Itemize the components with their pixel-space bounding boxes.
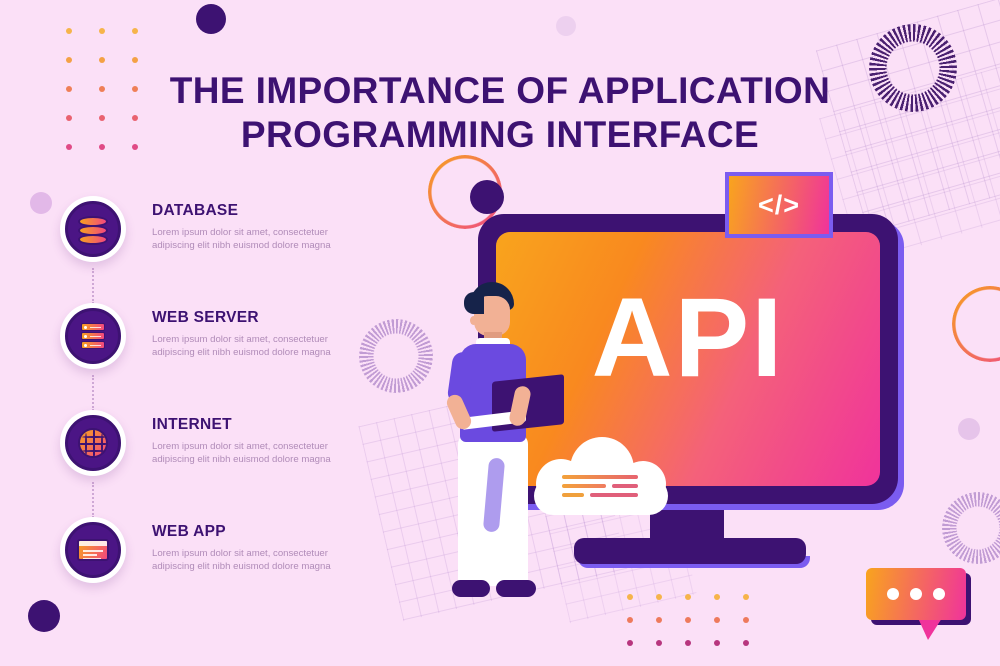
- chat-bubble-icon: [866, 568, 966, 630]
- list-item-text: DATABASE Lorem ipsum dolor sit amet, con…: [152, 202, 352, 252]
- chat-bubble-body: [866, 568, 966, 620]
- server-rack-icon: [76, 319, 110, 353]
- radial-burst-right: [942, 492, 1000, 564]
- badge-inner-ring: [65, 415, 121, 471]
- list-item-web-server[interactable]: WEB SERVER Lorem ipsum dolor sit amet, c…: [60, 303, 360, 410]
- list-item-text: WEB APP Lorem ipsum dolor sit amet, cons…: [152, 523, 352, 573]
- feature-list: DATABASE Lorem ipsum dolor sit amet, con…: [60, 196, 360, 624]
- title-line-2: PROGRAMMING INTERFACE: [0, 113, 1000, 157]
- list-item-title: DATABASE: [152, 202, 352, 220]
- list-item-title: INTERNET: [152, 416, 352, 434]
- list-item-web-app[interactable]: WEB APP Lorem ipsum dolor sit amet, cons…: [60, 517, 360, 624]
- badge-inner-ring: [65, 308, 121, 364]
- list-item-title: WEB APP: [152, 523, 352, 541]
- person-hair-side: [464, 292, 484, 314]
- infographic-canvas: THE IMPORTANCE OF APPLICATION PROGRAMMIN…: [0, 0, 1000, 666]
- person-ear: [470, 316, 477, 325]
- list-item-title: WEB SERVER: [152, 309, 352, 327]
- person-shoe-right: [496, 580, 536, 597]
- globe-icon: [76, 426, 110, 460]
- web-server-badge[interactable]: [60, 303, 126, 369]
- list-item-internet[interactable]: INTERNET Lorem ipsum dolor sit amet, con…: [60, 410, 360, 517]
- web-app-badge[interactable]: [60, 517, 126, 583]
- person-shoe-left: [452, 580, 490, 597]
- list-item-description: Lorem ipsum dolor sit amet, consectetuer…: [152, 441, 352, 466]
- code-tag-icon: </>: [725, 172, 833, 238]
- database-badge[interactable]: [60, 196, 126, 262]
- page-title: THE IMPORTANCE OF APPLICATION PROGRAMMIN…: [0, 69, 1000, 157]
- title-line-1: THE IMPORTANCE OF APPLICATION: [170, 70, 830, 111]
- radial-burst-middle-left: [359, 319, 433, 393]
- list-item-text: WEB SERVER Lorem ipsum dolor sit amet, c…: [152, 309, 352, 359]
- list-item-text: INTERNET Lorem ipsum dolor sit amet, con…: [152, 416, 352, 466]
- list-item-description: Lorem ipsum dolor sit amet, consectetuer…: [152, 548, 352, 573]
- solid-circle-dark-top: [196, 4, 226, 34]
- chat-dot: [887, 588, 899, 600]
- browser-window-icon: [76, 533, 110, 567]
- code-tag-label: </>: [758, 190, 800, 221]
- list-item-description: Lorem ipsum dolor sit amet, consectetuer…: [152, 227, 352, 252]
- badge-inner-ring: [65, 522, 121, 578]
- dot-grid-bottom-center: [627, 594, 772, 663]
- solid-circle-light-right: [958, 418, 980, 440]
- chat-bubble-tail: [918, 618, 942, 640]
- list-item-database[interactable]: DATABASE Lorem ipsum dolor sit amet, con…: [60, 196, 360, 303]
- solid-circle-dark-bottom-left: [28, 600, 60, 632]
- chat-dot: [933, 588, 945, 600]
- solid-circle-dark-ring-overlay: [470, 180, 504, 214]
- database-icon: [76, 212, 110, 246]
- person-with-laptop-illustration: [434, 282, 564, 618]
- chat-dot: [910, 588, 922, 600]
- list-item-description: Lorem ipsum dolor sit amet, consectetuer…: [152, 334, 352, 359]
- internet-badge[interactable]: [60, 410, 126, 476]
- gradient-ring-right: [952, 286, 1000, 362]
- solid-circle-light-left: [30, 192, 52, 214]
- solid-circle-light-bottomright: [556, 16, 576, 36]
- badge-inner-ring: [65, 201, 121, 257]
- monitor-base: [574, 538, 806, 564]
